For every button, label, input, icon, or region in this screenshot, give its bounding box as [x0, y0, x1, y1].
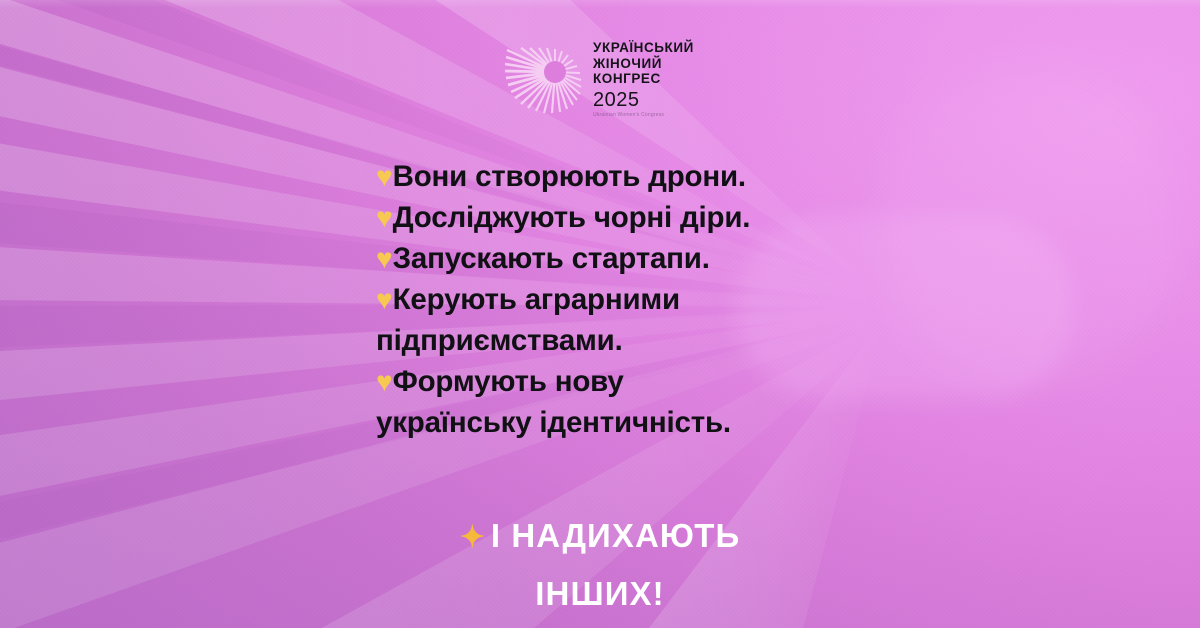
- logo-line-2: ЖІНОЧИЙ: [593, 56, 694, 72]
- congress-logo: УКРАЇНСЬКИЙ ЖІНОЧИЙ КОНГРЕС 2025 Ukraini…: [503, 34, 694, 119]
- statement-text: Керують аграрними: [393, 283, 680, 316]
- statement-line: ♥Керують аграрними: [376, 279, 896, 320]
- yellow-heart-icon: ♥: [376, 366, 393, 397]
- statement-text: Досліджують чорні діри.: [393, 201, 751, 234]
- yellow-heart-icon: ♥: [376, 243, 393, 274]
- statement-text: Запускають стартапи.: [393, 242, 710, 275]
- statement-line: ♥Формують нову: [376, 361, 896, 402]
- yellow-heart-icon: ♥: [376, 284, 393, 315]
- yellow-heart-icon: ♥: [376, 202, 393, 233]
- social-banner-canvas: УКРАЇНСЬКИЙ ЖІНОЧИЙ КОНГРЕС 2025 Ukraini…: [0, 0, 1200, 628]
- closing-line-2: ІНШИХ!: [0, 566, 1200, 622]
- statement-line: ♥Вони створюють дрони.: [376, 156, 896, 197]
- statement-line: ♥Запускають стартапи.: [376, 238, 896, 279]
- yellow-heart-icon: ♥: [376, 161, 393, 192]
- logo-line-1: УКРАЇНСЬКИЙ: [593, 40, 694, 56]
- logo-subtitle: Ukrainian Women's Congress: [593, 112, 694, 119]
- statement-line: ♥Досліджують чорні діри.: [376, 197, 896, 238]
- closing-text-1: І НАДИХАЮТЬ: [491, 517, 740, 554]
- statement-line-continuation: українську ідентичність.: [376, 402, 896, 443]
- logo-line-3: КОНГРЕС: [593, 71, 694, 87]
- closing-line-1: ✦І НАДИХАЮТЬ: [0, 508, 1200, 566]
- statement-text: Вони створюють дрони.: [393, 160, 746, 193]
- statement-text: Формують нову: [393, 365, 624, 398]
- statement-line-continuation: підприємствами.: [376, 320, 896, 361]
- sparkles-icon: ✦: [460, 521, 485, 554]
- sunburst-icon: [503, 34, 583, 114]
- top-light-band: [0, 0, 1200, 8]
- statement-list: ♥Вони створюють дрони. ♥Досліджують чорн…: [376, 156, 896, 443]
- logo-year: 2025: [593, 89, 694, 111]
- closing-callout: ✦І НАДИХАЮТЬ ІНШИХ!: [0, 508, 1200, 622]
